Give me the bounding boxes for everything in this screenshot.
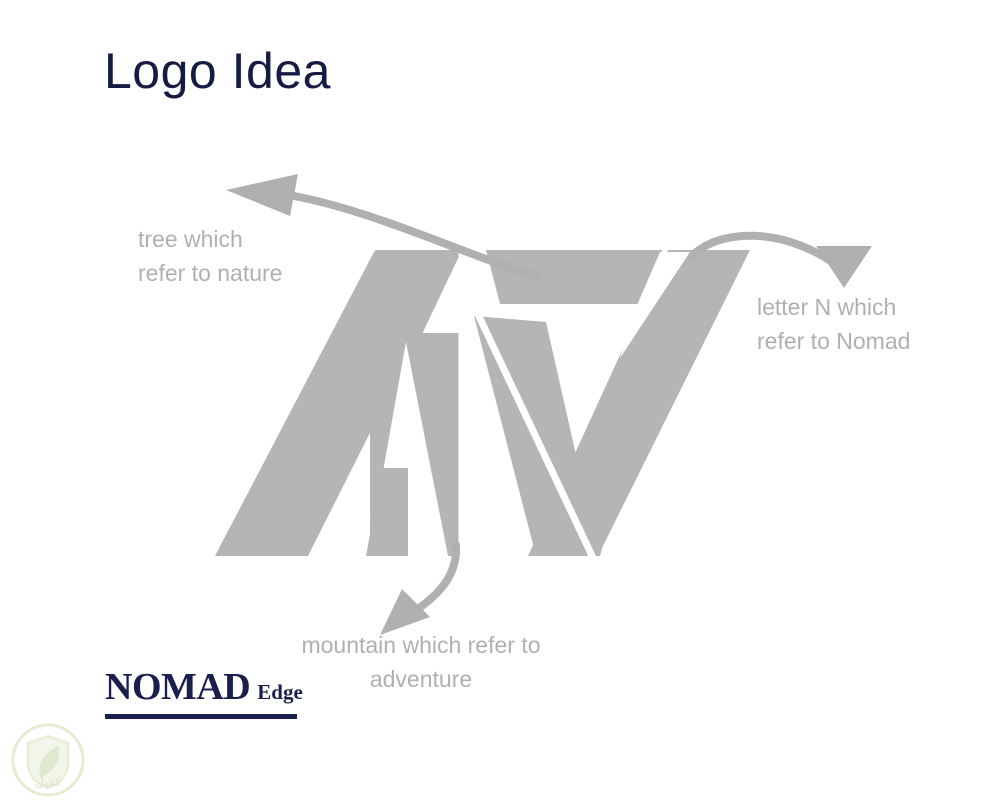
wordmark-rule — [105, 714, 297, 719]
wordmark-sub: Edge — [257, 682, 303, 703]
wordmark-row: NOMAD Edge — [105, 668, 305, 706]
annotation-mountain: mountain which refer to adventure — [265, 628, 577, 696]
annotation-tree-line2: refer to nature — [138, 256, 282, 290]
page-title: Logo Idea — [104, 44, 331, 99]
wordmark: NOMAD Edge — [105, 668, 305, 719]
annotation-tree: tree which refer to nature — [138, 222, 282, 290]
watermark-arabic-text: كفيل — [35, 775, 62, 790]
annotation-letter-line2: refer to Nomad — [757, 324, 910, 358]
annotation-tree-line1: tree which — [138, 222, 282, 256]
shield-watermark-icon: كفيل — [4, 722, 98, 800]
wordmark-main: NOMAD — [105, 668, 250, 706]
annotation-letter-line1: letter N which — [757, 290, 910, 324]
slide-canvas: Logo Idea — [0, 0, 1000, 800]
annotation-mountain-line1: mountain which refer to — [265, 628, 577, 662]
annotation-mountain-line2: adventure — [265, 662, 577, 696]
annotation-letter: letter N which refer to Nomad — [757, 290, 910, 358]
